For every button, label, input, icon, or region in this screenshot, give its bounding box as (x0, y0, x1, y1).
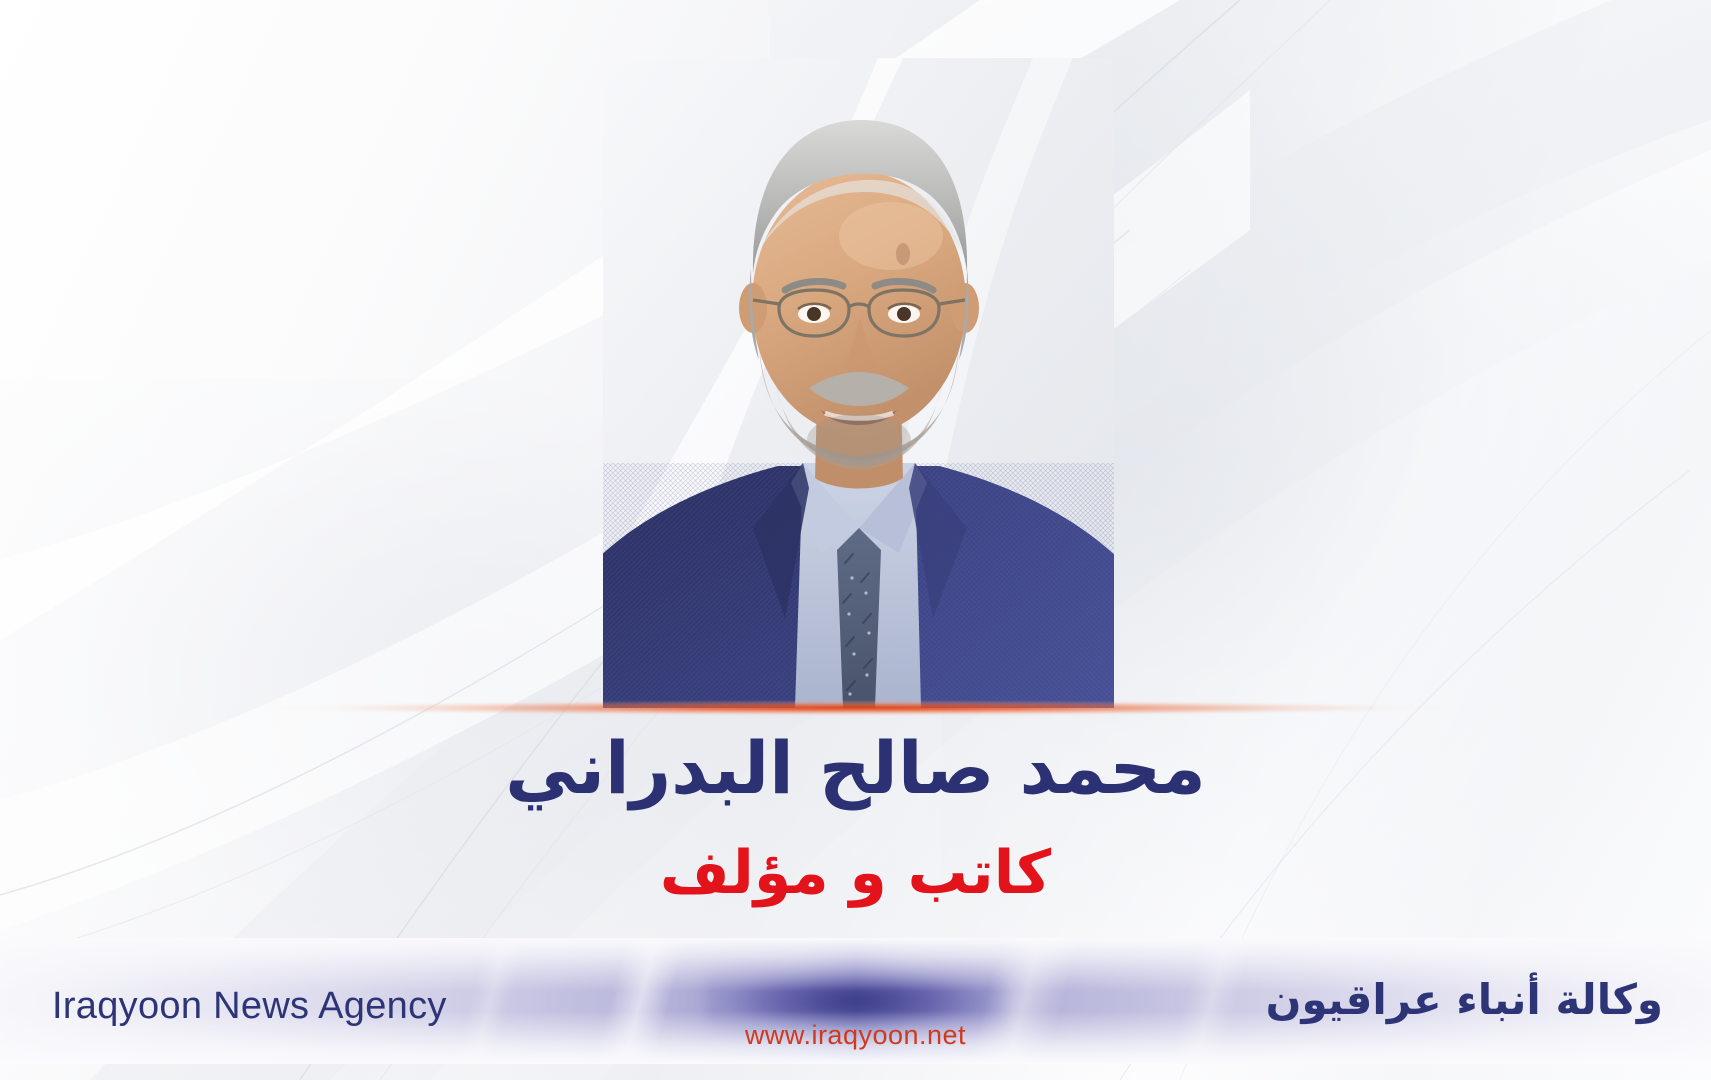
person-name: محمد صالح البدراني (0, 726, 1711, 811)
person-role: كاتب و مؤلف (0, 838, 1711, 909)
news-portrait-card: محمد صالح البدراني كاتب و مؤلف Iraqyoon … (0, 0, 1711, 1080)
orange-divider-line (280, 700, 1440, 716)
website-url[interactable]: www.iraqyoon.net (0, 1020, 1711, 1051)
portrait-illustration (603, 58, 1114, 708)
agency-name-arabic: وكالة أنباء عراقيون (1266, 975, 1663, 1024)
portrait-photo (603, 58, 1114, 708)
